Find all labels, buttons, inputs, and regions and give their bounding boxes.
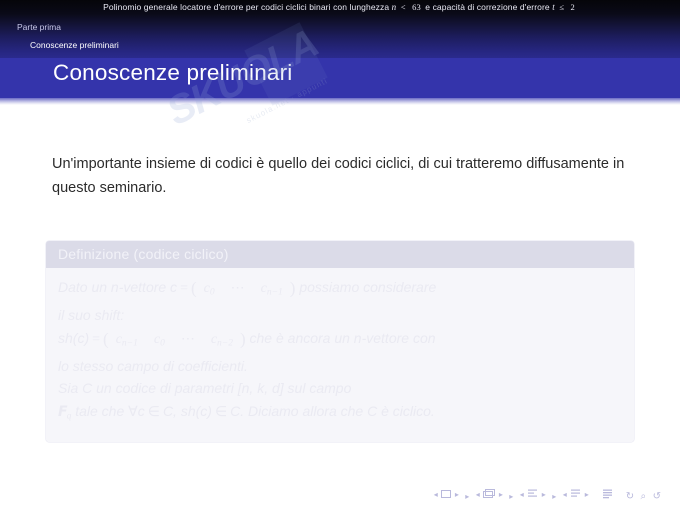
definition-line-6: Fq tale che ∀c∈C, sh(c)∈C. Diciamo allor… — [58, 400, 622, 428]
section-next-icon[interactable]: ▸ — [584, 490, 590, 499]
def-l6-b: C, sh(c) — [163, 403, 212, 419]
sep-1: ▸ — [464, 492, 470, 501]
def-l3-c2-sub: 0 — [160, 338, 165, 348]
definition-line-5: Sia C un codice di parametri [n, k, d] s… — [58, 377, 622, 400]
body-paragraph: Un'importante insieme di codici è quello… — [52, 152, 630, 200]
deck-title-mid: e capacità di correzione d'errore — [425, 2, 549, 12]
def-l1-eq: = — [177, 281, 191, 296]
def-l6-in2: ∈ — [212, 405, 230, 420]
def-l3-c1-sub: n−1 — [122, 338, 138, 348]
section-icon[interactable] — [570, 489, 581, 500]
nav-subsection-conoscenze-preliminari[interactable]: Conoscenze preliminari — [30, 40, 119, 50]
back-icon[interactable]: ↻ — [625, 491, 635, 502]
subsection-icon[interactable] — [527, 489, 538, 500]
sep-3: ▸ — [551, 492, 557, 501]
def-l3-open: ( — [103, 329, 109, 348]
def-l1-c0-sub: 0 — [210, 288, 215, 298]
slide-next-icon[interactable]: ▸ — [454, 490, 460, 499]
slide-prev-icon[interactable]: ◂ — [433, 490, 439, 499]
deck-title-rel-lt: < — [399, 2, 408, 12]
definition-line-4: lo stesso campo di coefficienti. — [58, 355, 622, 378]
def-l1-close: ) — [290, 278, 296, 297]
definition-line-1: Dato un n-vettore c=(c0⋯cn−1) possiamo c… — [58, 276, 622, 304]
forward-icon[interactable]: ↺ — [652, 491, 662, 502]
sep-2: ▸ — [508, 492, 514, 501]
frame-prev-icon[interactable]: ◂ — [475, 490, 481, 499]
frame-next-icon[interactable]: ▸ — [498, 490, 504, 499]
def-l1-open: ( — [191, 278, 197, 297]
definition-body: Dato un n-vettore c=(c0⋯cn−1) possiamo c… — [46, 268, 634, 442]
nav-group-subsection[interactable]: ◂ ▸ — [519, 489, 547, 500]
deck-title: Polinomio generale locatore d'errore per… — [0, 2, 680, 12]
deck-title-var-n: n — [392, 2, 397, 12]
def-l6-a: tale che ∀c — [75, 403, 145, 419]
nav-section-parte-prima[interactable]: Parte prima — [17, 22, 61, 32]
def-l1-b: possiamo considerare — [299, 279, 436, 295]
deck-title-rel-le: ≤ — [557, 2, 566, 12]
slide-icon[interactable] — [441, 490, 451, 500]
nav-group-slide[interactable]: ◂ ▸ — [433, 489, 460, 500]
subsection-next-icon[interactable]: ▸ — [541, 490, 547, 499]
def-l1-cn-sub: n−1 — [267, 288, 283, 298]
def-l3-b: che è ancora un n-vettore con — [250, 330, 436, 346]
definition-line-3: sh(c)=(cn−1c0⋯cn−2) che è ancora un n-ve… — [58, 327, 622, 355]
definition-heading: Definizione (codice ciclico) — [46, 241, 634, 268]
subsection-prev-icon[interactable]: ◂ — [519, 490, 525, 499]
def-l1-a: Dato un n-vettore c — [58, 279, 177, 295]
def-l3-a: sh(c) — [58, 330, 89, 346]
def-l1-dots: ⋯ — [231, 281, 245, 296]
def-l3-eq: = — [89, 332, 103, 347]
nav-group-section[interactable]: ◂ ▸ — [562, 489, 590, 500]
def-l3-close: ) — [240, 329, 246, 348]
page-title: Conoscenze preliminari — [53, 60, 293, 86]
header-underline — [0, 98, 680, 105]
def-l6-field-F: F — [58, 404, 67, 420]
deck-title-num-2: 2 — [569, 2, 577, 12]
def-l6-c: C. Diciamo allora che C è ciclico. — [230, 403, 435, 419]
section-prev-icon[interactable]: ◂ — [562, 490, 568, 499]
doc-icon[interactable] — [602, 486, 613, 504]
def-l6-in1: ∈ — [145, 405, 163, 420]
frame-icon[interactable] — [483, 489, 495, 500]
def-l3-dots: ⋯ — [181, 332, 195, 347]
deck-title-var-t: t — [552, 2, 555, 12]
nav-group-frame[interactable]: ◂ ▸ — [475, 489, 504, 500]
deck-title-num-63: 63 — [410, 2, 423, 12]
deck-title-pre: Polinomio generale locatore d'errore per… — [103, 2, 389, 12]
def-l6-field-sub: q — [67, 411, 72, 421]
definition-line-2: il suo shift: — [58, 304, 622, 327]
search-icon[interactable]: ⌕ — [640, 491, 648, 502]
def-l3-c3-sub: n−2 — [217, 338, 233, 348]
definition-block: Definizione (codice ciclico) Dato un n-v… — [46, 241, 634, 442]
beamer-navigation-bar[interactable]: ◂ ▸ ▸ ◂ ▸ ▸ ◂ ▸ ▸ ◂ — [0, 486, 680, 504]
